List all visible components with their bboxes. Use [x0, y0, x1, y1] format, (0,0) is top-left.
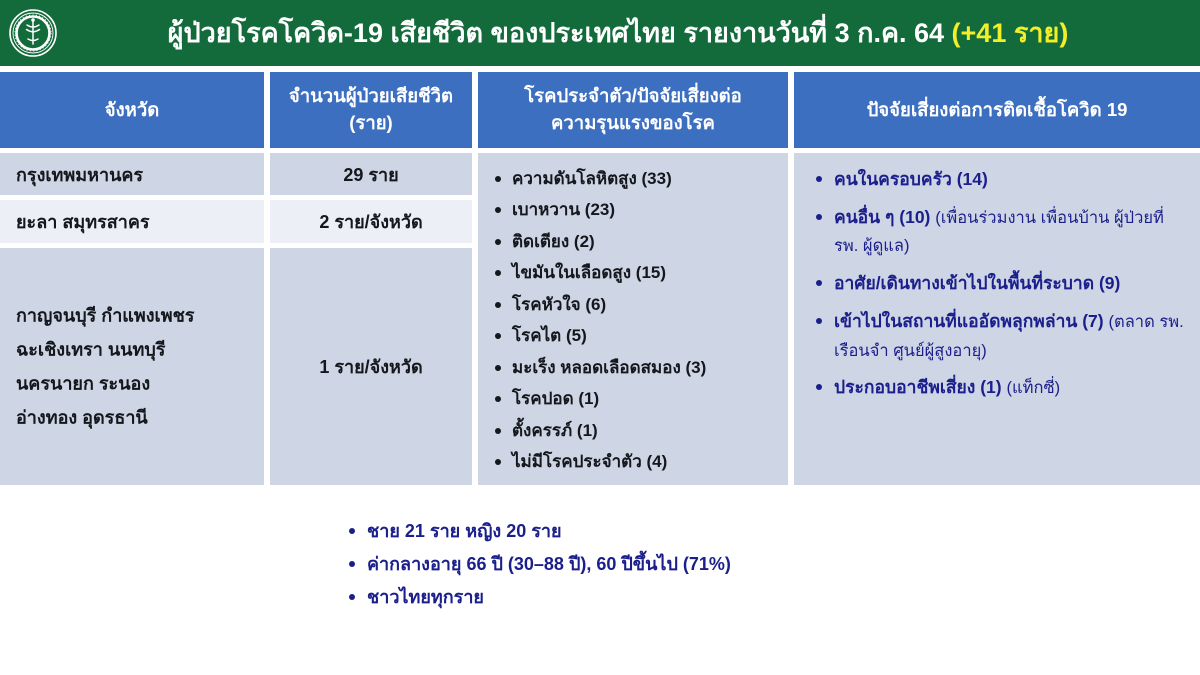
summary-section: ชาย 21 ราย หญิง 20 ราย ค่ากลางอายุ 66 ปี… [345, 515, 965, 613]
underlying-conditions-list: ความดันโลหิตสูง (33) เบาหวาน (23) ติดเตี… [490, 163, 780, 477]
death-count-bangkok: 29 ราย [270, 153, 472, 195]
death-count-one-per-province: 1 ราย/จังหวัด [270, 248, 472, 485]
column-header-underlying-conditions-line1: โรคประจำตัว/ปัจจัยเสี่ยงต่อ [524, 83, 742, 110]
list-item-main: คนอื่น ๆ (10) [834, 207, 935, 227]
page-title: ผู้ป่วยโรคโควิด-19 เสียชีวิต ของประเทศไท… [66, 19, 1200, 47]
summary-item-nationality: ชาวไทยทุกราย [345, 581, 965, 614]
list-item: คนในครอบครัว (14) [810, 165, 1192, 194]
list-item-detail: (แท็กซี่) [1006, 379, 1060, 397]
province-line: ฉะเชิงเทรา นนทบุรี [16, 333, 264, 367]
column-header-death-count: จำนวนผู้ป่วยเสียชีวิต (ราย) [270, 72, 472, 148]
list-item: ประกอบอาชีพเสี่ยง (1) (แท็กซี่) [810, 373, 1192, 402]
column-header-death-count-line2: (ราย) [289, 110, 453, 137]
list-item-main: อาศัย/เดินทางเข้าไปในพื้นที่ระบาด (9) [834, 273, 1120, 293]
summary-item-age-median: ค่ากลางอายุ 66 ปี (30–88 ปี), 60 ปีขึ้นไ… [345, 548, 965, 581]
list-item: เบาหวาน (23) [490, 194, 780, 225]
list-item: โรคหัวใจ (6) [490, 289, 780, 320]
province-column: กรุงเทพมหานคร ยะลา สมุทรสาคร กาญจนบุรี ก… [0, 153, 264, 485]
list-item: คนอื่น ๆ (10) (เพื่อนร่วมงาน เพื่อนบ้าน … [810, 203, 1192, 260]
summary-list: ชาย 21 ราย หญิง 20 ราย ค่ากลางอายุ 66 ปี… [345, 515, 965, 613]
list-item: ไม่มีโรคประจำตัว (4) [490, 446, 780, 477]
death-count-column: 29 ราย 2 ราย/จังหวัด 1 ราย/จังหวัด [270, 153, 472, 485]
table-row-province-bangkok: กรุงเทพมหานคร [0, 153, 264, 195]
death-count-two-per-province: 2 ราย/จังหวัด [270, 200, 472, 243]
underlying-conditions-cell: ความดันโลหิตสูง (33) เบาหวาน (23) ติดเตี… [478, 153, 788, 485]
deaths-summary-table: จังหวัด จำนวนผู้ป่วยเสียชีวิต (ราย) โรคป… [0, 72, 1200, 485]
list-item-main: คนในครอบครัว (14) [834, 169, 988, 189]
page-title-new-cases-badge: (+41 ราย) [952, 18, 1069, 48]
column-header-underlying-conditions: โรคประจำตัว/ปัจจัยเสี่ยงต่อ ความรุนแรงขอ… [478, 72, 788, 148]
province-line: กาญจนบุรี กำแพงเพชร [16, 298, 264, 332]
column-header-exposure-risk: ปัจจัยเสี่ยงต่อการติดเชื้อโควิด 19 [794, 72, 1200, 148]
summary-item-sex-breakdown: ชาย 21 ราย หญิง 20 ราย [345, 515, 965, 548]
list-item: โรคไต (5) [490, 320, 780, 351]
list-item: มะเร็ง หลอดเลือดสมอง (3) [490, 352, 780, 383]
exposure-risk-cell: คนในครอบครัว (14) คนอื่น ๆ (10) (เพื่อนร… [794, 153, 1200, 485]
table-header-row: จังหวัด จำนวนผู้ป่วยเสียชีวิต (ราย) โรคป… [0, 72, 1200, 148]
list-item-main: ประกอบอาชีพเสี่ยง (1) [834, 377, 1006, 397]
list-item: ติดเตียง (2) [490, 226, 780, 257]
column-header-province: จังหวัด [0, 72, 264, 148]
list-item: ความดันโลหิตสูง (33) [490, 163, 780, 194]
list-item: ไขมันในเลือดสูง (15) [490, 257, 780, 288]
list-item-main: เข้าไปในสถานที่แออัดพลุกพล่าน (7) [834, 311, 1108, 331]
exposure-risk-list: คนในครอบครัว (14) คนอื่น ๆ (10) (เพื่อนร… [810, 165, 1192, 402]
column-header-underlying-conditions-line2: ความรุนแรงของโรค [524, 110, 742, 137]
table-row-province-two-deaths: ยะลา สมุทรสาคร [0, 200, 264, 243]
page-header-banner: ผู้ป่วยโรคโควิด-19 เสียชีวิต ของประเทศไท… [0, 0, 1200, 66]
table-row-province-one-death: กาญจนบุรี กำแพงเพชร ฉะเชิงเทรา นนทบุรี น… [0, 248, 264, 485]
province-line: นครนายก ระนอง [16, 367, 264, 401]
list-item: โรคปอด (1) [490, 383, 780, 414]
list-item: เข้าไปในสถานที่แออัดพลุกพล่าน (7) (ตลาด … [810, 307, 1192, 364]
table-body: กรุงเทพมหานคร ยะลา สมุทรสาคร กาญจนบุรี ก… [0, 153, 1200, 485]
province-line: อ่างทอง อุดรธานี [16, 401, 264, 435]
column-header-death-count-line1: จำนวนผู้ป่วยเสียชีวิต [289, 83, 453, 110]
page-title-main: ผู้ป่วยโรคโควิด-19 เสียชีวิต ของประเทศไท… [168, 18, 952, 48]
list-item: อาศัย/เดินทางเข้าไปในพื้นที่ระบาด (9) [810, 269, 1192, 298]
list-item: ตั้งครรภ์ (1) [490, 415, 780, 446]
moph-caduceus-emblem-icon [0, 0, 66, 66]
